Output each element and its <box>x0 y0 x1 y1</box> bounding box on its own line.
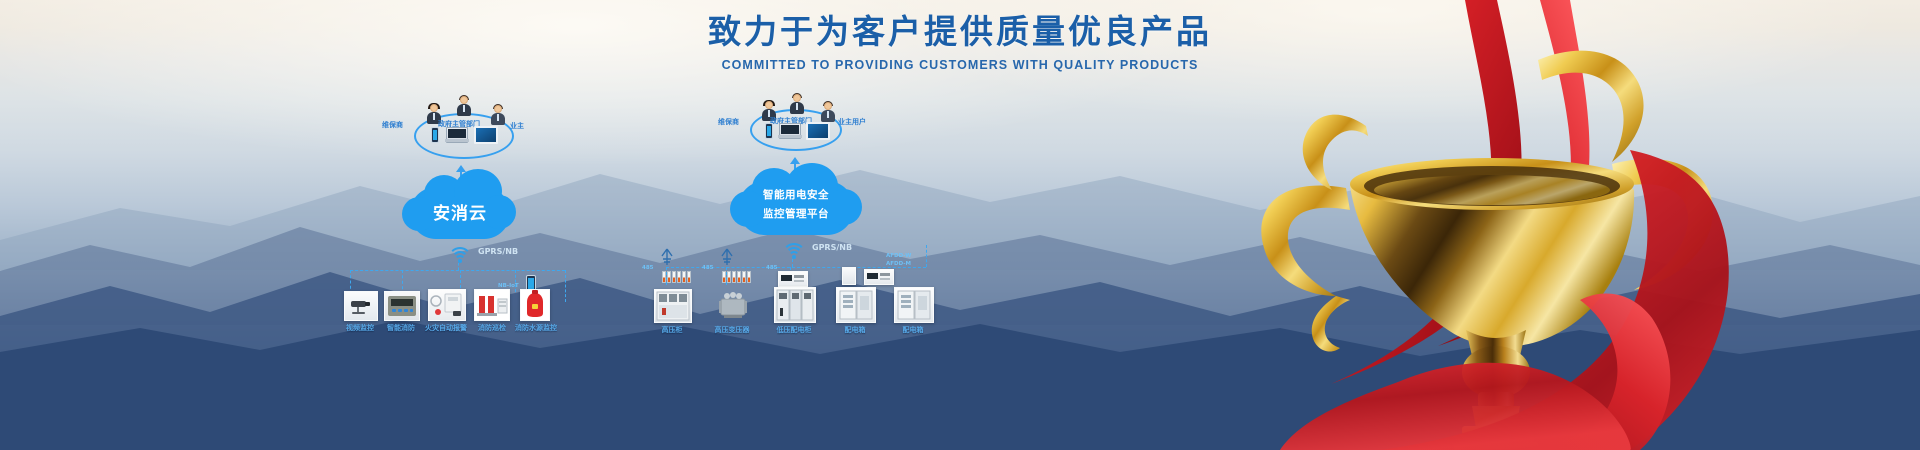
device-label-hv-cabinet: 高压柜 <box>646 325 698 335</box>
monitor-device-icon <box>474 126 498 144</box>
person-icon-government <box>456 96 472 116</box>
transmission-tower-icon-2 <box>720 247 734 267</box>
monitor-device-icon-right <box>806 122 830 140</box>
device-thumb-hv-switchgear <box>654 289 692 323</box>
node-tag-afdd-m: AFDD-M <box>886 261 911 267</box>
drop-line-5 <box>565 270 566 302</box>
wireless-signal-icon <box>448 247 472 263</box>
person-icon-owner-right <box>820 102 836 122</box>
node-tag-afdd-w: AFDD-W <box>886 253 911 259</box>
riser-line <box>458 263 459 270</box>
bus-line-horizontal <box>350 270 565 271</box>
node-tag-485-2: 485 <box>702 265 713 271</box>
device-thumb-distribution-box-2 <box>894 287 934 323</box>
person-icon-owner <box>490 105 506 125</box>
device-label-lv-cabinet: 低压配电柜 <box>762 325 826 335</box>
person-icon-government-right <box>789 94 805 114</box>
meter-module-icon-2 <box>864 269 894 285</box>
role-label-maintenance: 维保商 <box>382 120 403 130</box>
cloud-platform-label-line1: 智能用电安全 <box>728 187 864 202</box>
drop-line-r5 <box>926 245 927 267</box>
role-label-maintenance-right: 维保商 <box>718 117 739 127</box>
role-label-owner: 业主 <box>510 121 524 131</box>
device-label-distribution-box-2: 配电箱 <box>887 325 939 335</box>
device-thumb-distribution-box-1 <box>836 287 876 323</box>
diagram-fire-cloud: 维保商 政府主管部门 业主 安消云 GPRS/NB <box>330 95 650 405</box>
riser-line-right <box>792 259 793 267</box>
device-label-transformer: 高压变压器 <box>700 325 764 335</box>
device-thumb-fire-hydrant <box>520 289 550 321</box>
device-thumb-fire-alarm <box>428 289 466 321</box>
device-label-water-monitor: 消防水源监控 <box>504 323 568 333</box>
wireless-signal-icon-right <box>782 243 806 259</box>
transmission-tower-icon-1 <box>660 247 674 267</box>
cloud-platform-label: 安消云 <box>400 199 520 224</box>
role-label-owner-right: 业主用户 <box>838 117 866 127</box>
diagram-power-safety-cloud: 维保商 政府主管部门 业主用户 智能用电安全 监控管理平台 GPRS/NB <box>640 95 1000 405</box>
breaker-strip-1 <box>662 271 691 283</box>
small-module-icon <box>842 267 856 285</box>
laptop-device-icon-right <box>779 123 801 139</box>
device-thumb-pump-inspection <box>474 289 510 321</box>
device-thumb-cctv <box>344 291 378 321</box>
award-trophy-illustration <box>1160 0 1920 450</box>
promo-banner: 致力于为客户提供质量优良产品 COMMITTED TO PROVIDING CU… <box>0 0 1920 450</box>
device-label-distribution-box-1: 配电箱 <box>829 325 881 335</box>
link-protocol-label-right: GPRS/NB <box>812 243 852 252</box>
device-thumb-transformer <box>716 291 750 321</box>
device-thumb-lv-cabinet <box>774 287 816 323</box>
node-tag-485-3: 485 <box>766 265 777 271</box>
breaker-strip-2 <box>722 271 751 283</box>
node-tag-485-1: 485 <box>642 265 653 271</box>
laptop-device-icon <box>446 127 468 143</box>
cloud-platform-label-line2: 监控管理平台 <box>728 206 864 221</box>
phone-device-icon-right <box>765 123 773 139</box>
meter-module-icon-1 <box>778 271 808 287</box>
phone-device-icon <box>431 127 439 143</box>
link-protocol-label: GPRS/NB <box>478 247 518 256</box>
device-thumb-control-panel <box>384 291 420 321</box>
